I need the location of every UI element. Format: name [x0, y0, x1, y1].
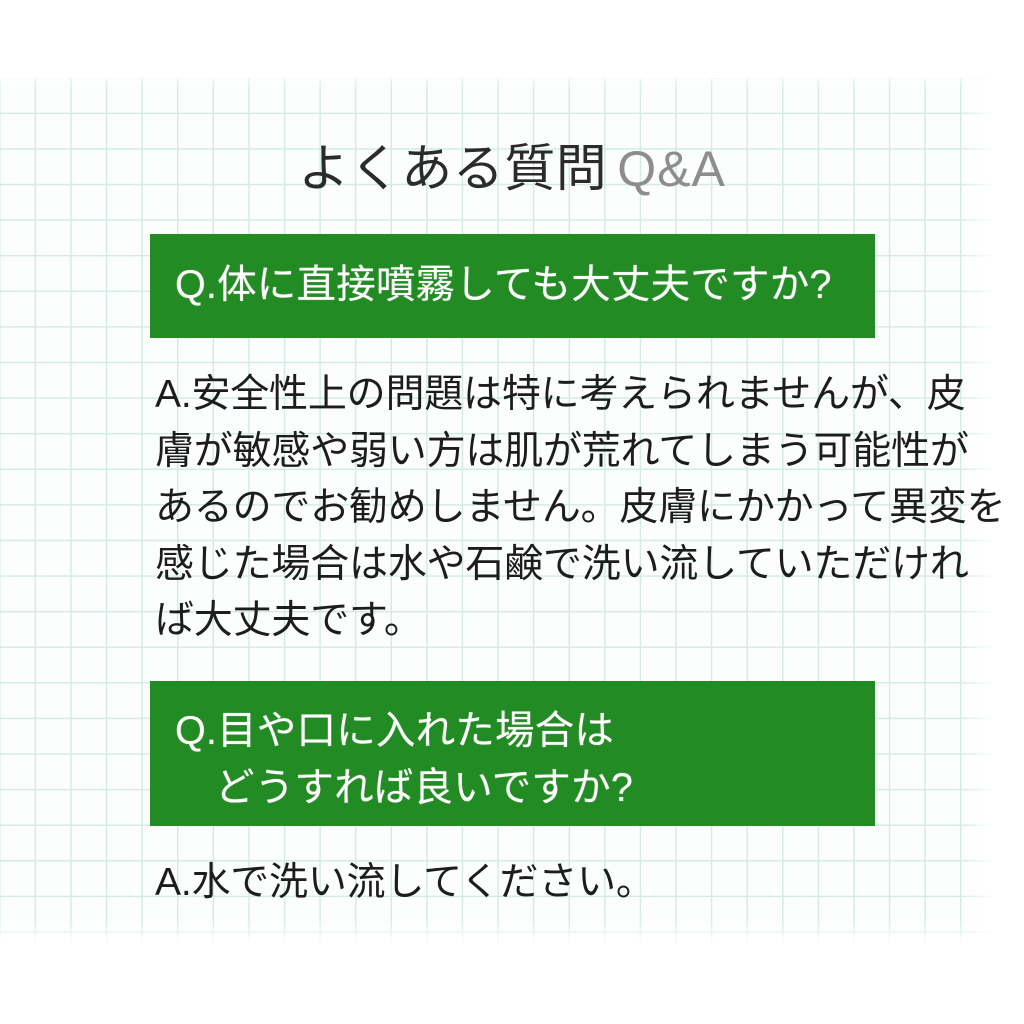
question-line: Q.体に直接噴霧しても大丈夫ですか?: [175, 257, 875, 314]
question-text-1: Q.体に直接噴霧しても大丈夫ですか?: [150, 234, 875, 314]
answer-line: A.安全性上の問題は特に考えられませんが、皮: [155, 367, 895, 424]
answer-line: 膚が敏感や弱い方は肌が荒れてしまう可能性が: [155, 424, 895, 481]
answer-line: 感じた場合は水や石鹸で洗い流していただけれ: [155, 537, 895, 594]
question-text-2: Q.目や口に入れた場合は どうすれば良いですか?: [150, 681, 875, 817]
page-title-qa: Q&A: [617, 141, 726, 197]
faq-page: よくある質問Q&A Q.体に直接噴霧しても大丈夫ですか? A.安全性上の問題は特…: [0, 0, 1024, 1024]
page-title-main: よくある質問: [298, 140, 607, 197]
answer-line: A.水で洗い流してください。: [155, 855, 895, 912]
answer-text-1: A.安全性上の問題は特に考えられませんが、皮 膚が敏感や弱い方は肌が荒れてしまう…: [155, 367, 895, 650]
question-banner-2[interactable]: Q.目や口に入れた場合は どうすれば良いですか?: [150, 681, 875, 826]
answer-text-2: A.水で洗い流してください。: [155, 855, 895, 912]
question-line: Q.目や口に入れた場合は: [175, 703, 875, 760]
answer-line: ば大丈夫です。: [155, 593, 895, 650]
question-line: どうすれば良いですか?: [175, 760, 875, 817]
faq-content: よくある質問Q&A Q.体に直接噴霧しても大丈夫ですか? A.安全性上の問題は特…: [0, 0, 1024, 1024]
answer-line: あるのでお勧めしません。皮膚にかかって異変を: [155, 480, 895, 537]
question-banner-1[interactable]: Q.体に直接噴霧しても大丈夫ですか?: [150, 234, 875, 338]
page-title: よくある質問Q&A: [0, 139, 1024, 199]
